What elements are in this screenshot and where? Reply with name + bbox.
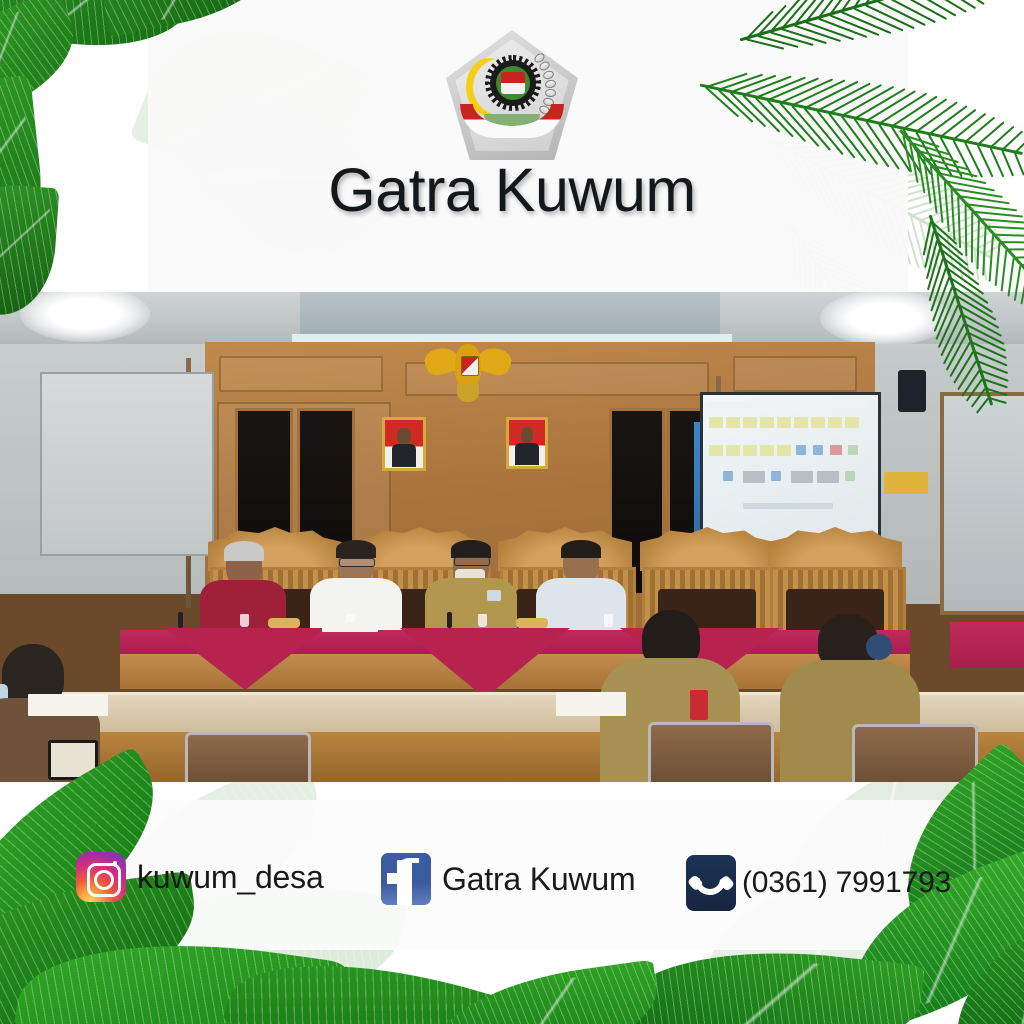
vice-president-portrait <box>506 417 548 469</box>
snack-tray <box>516 618 548 628</box>
ceiling-recess <box>300 292 720 338</box>
rear-whiteboard <box>40 372 214 556</box>
offering-shelf <box>884 472 928 494</box>
meeting-photo <box>0 292 1024 782</box>
pentagon-emblem-icon <box>446 30 578 160</box>
drinking-glass <box>478 614 487 627</box>
phone-number: (0361) 7991793 <box>742 866 951 900</box>
facebook-page-name: Gatra Kuwum <box>442 861 635 898</box>
contact-instagram[interactable]: kuwum_desa <box>76 852 324 902</box>
garuda-pancasila-icon <box>425 342 511 404</box>
stacking-chair <box>185 732 311 782</box>
poster-header: Gatra Kuwum <box>0 0 1024 292</box>
eyeglasses-icon <box>454 557 490 566</box>
document-paper <box>322 622 378 632</box>
tablet-device <box>48 740 98 780</box>
microphone <box>178 612 183 628</box>
microphone <box>447 612 452 628</box>
instagram-handle: kuwum_desa <box>137 859 324 896</box>
drinking-glass <box>240 614 249 627</box>
stacking-chair <box>852 724 978 782</box>
right-window <box>940 392 1024 615</box>
hair-tie <box>866 634 892 660</box>
phone-icon[interactable] <box>686 855 736 911</box>
uniform-badge <box>487 590 501 601</box>
wall-speaker <box>898 370 926 412</box>
contact-phone[interactable]: (0361) 7991793 <box>686 855 951 911</box>
social-media-poster: Gatra Kuwum <box>0 0 1024 1024</box>
contact-facebook[interactable]: Gatra Kuwum <box>381 853 635 905</box>
side-table-cloth <box>950 622 1024 668</box>
gear-icon <box>490 60 536 106</box>
page-title: Gatra Kuwum <box>0 160 1024 221</box>
snack-tray <box>268 618 300 628</box>
document-paper <box>556 692 626 716</box>
ceiling-light <box>820 292 950 346</box>
document-paper <box>28 694 108 716</box>
instagram-icon[interactable] <box>76 852 126 902</box>
eyeglasses-icon <box>339 558 375 567</box>
shield-icon <box>501 72 525 94</box>
president-portrait <box>382 417 426 471</box>
stacking-chair <box>648 722 774 782</box>
ceiling-trim <box>292 334 732 342</box>
red-binder <box>690 690 708 720</box>
facebook-icon[interactable] <box>381 853 431 905</box>
